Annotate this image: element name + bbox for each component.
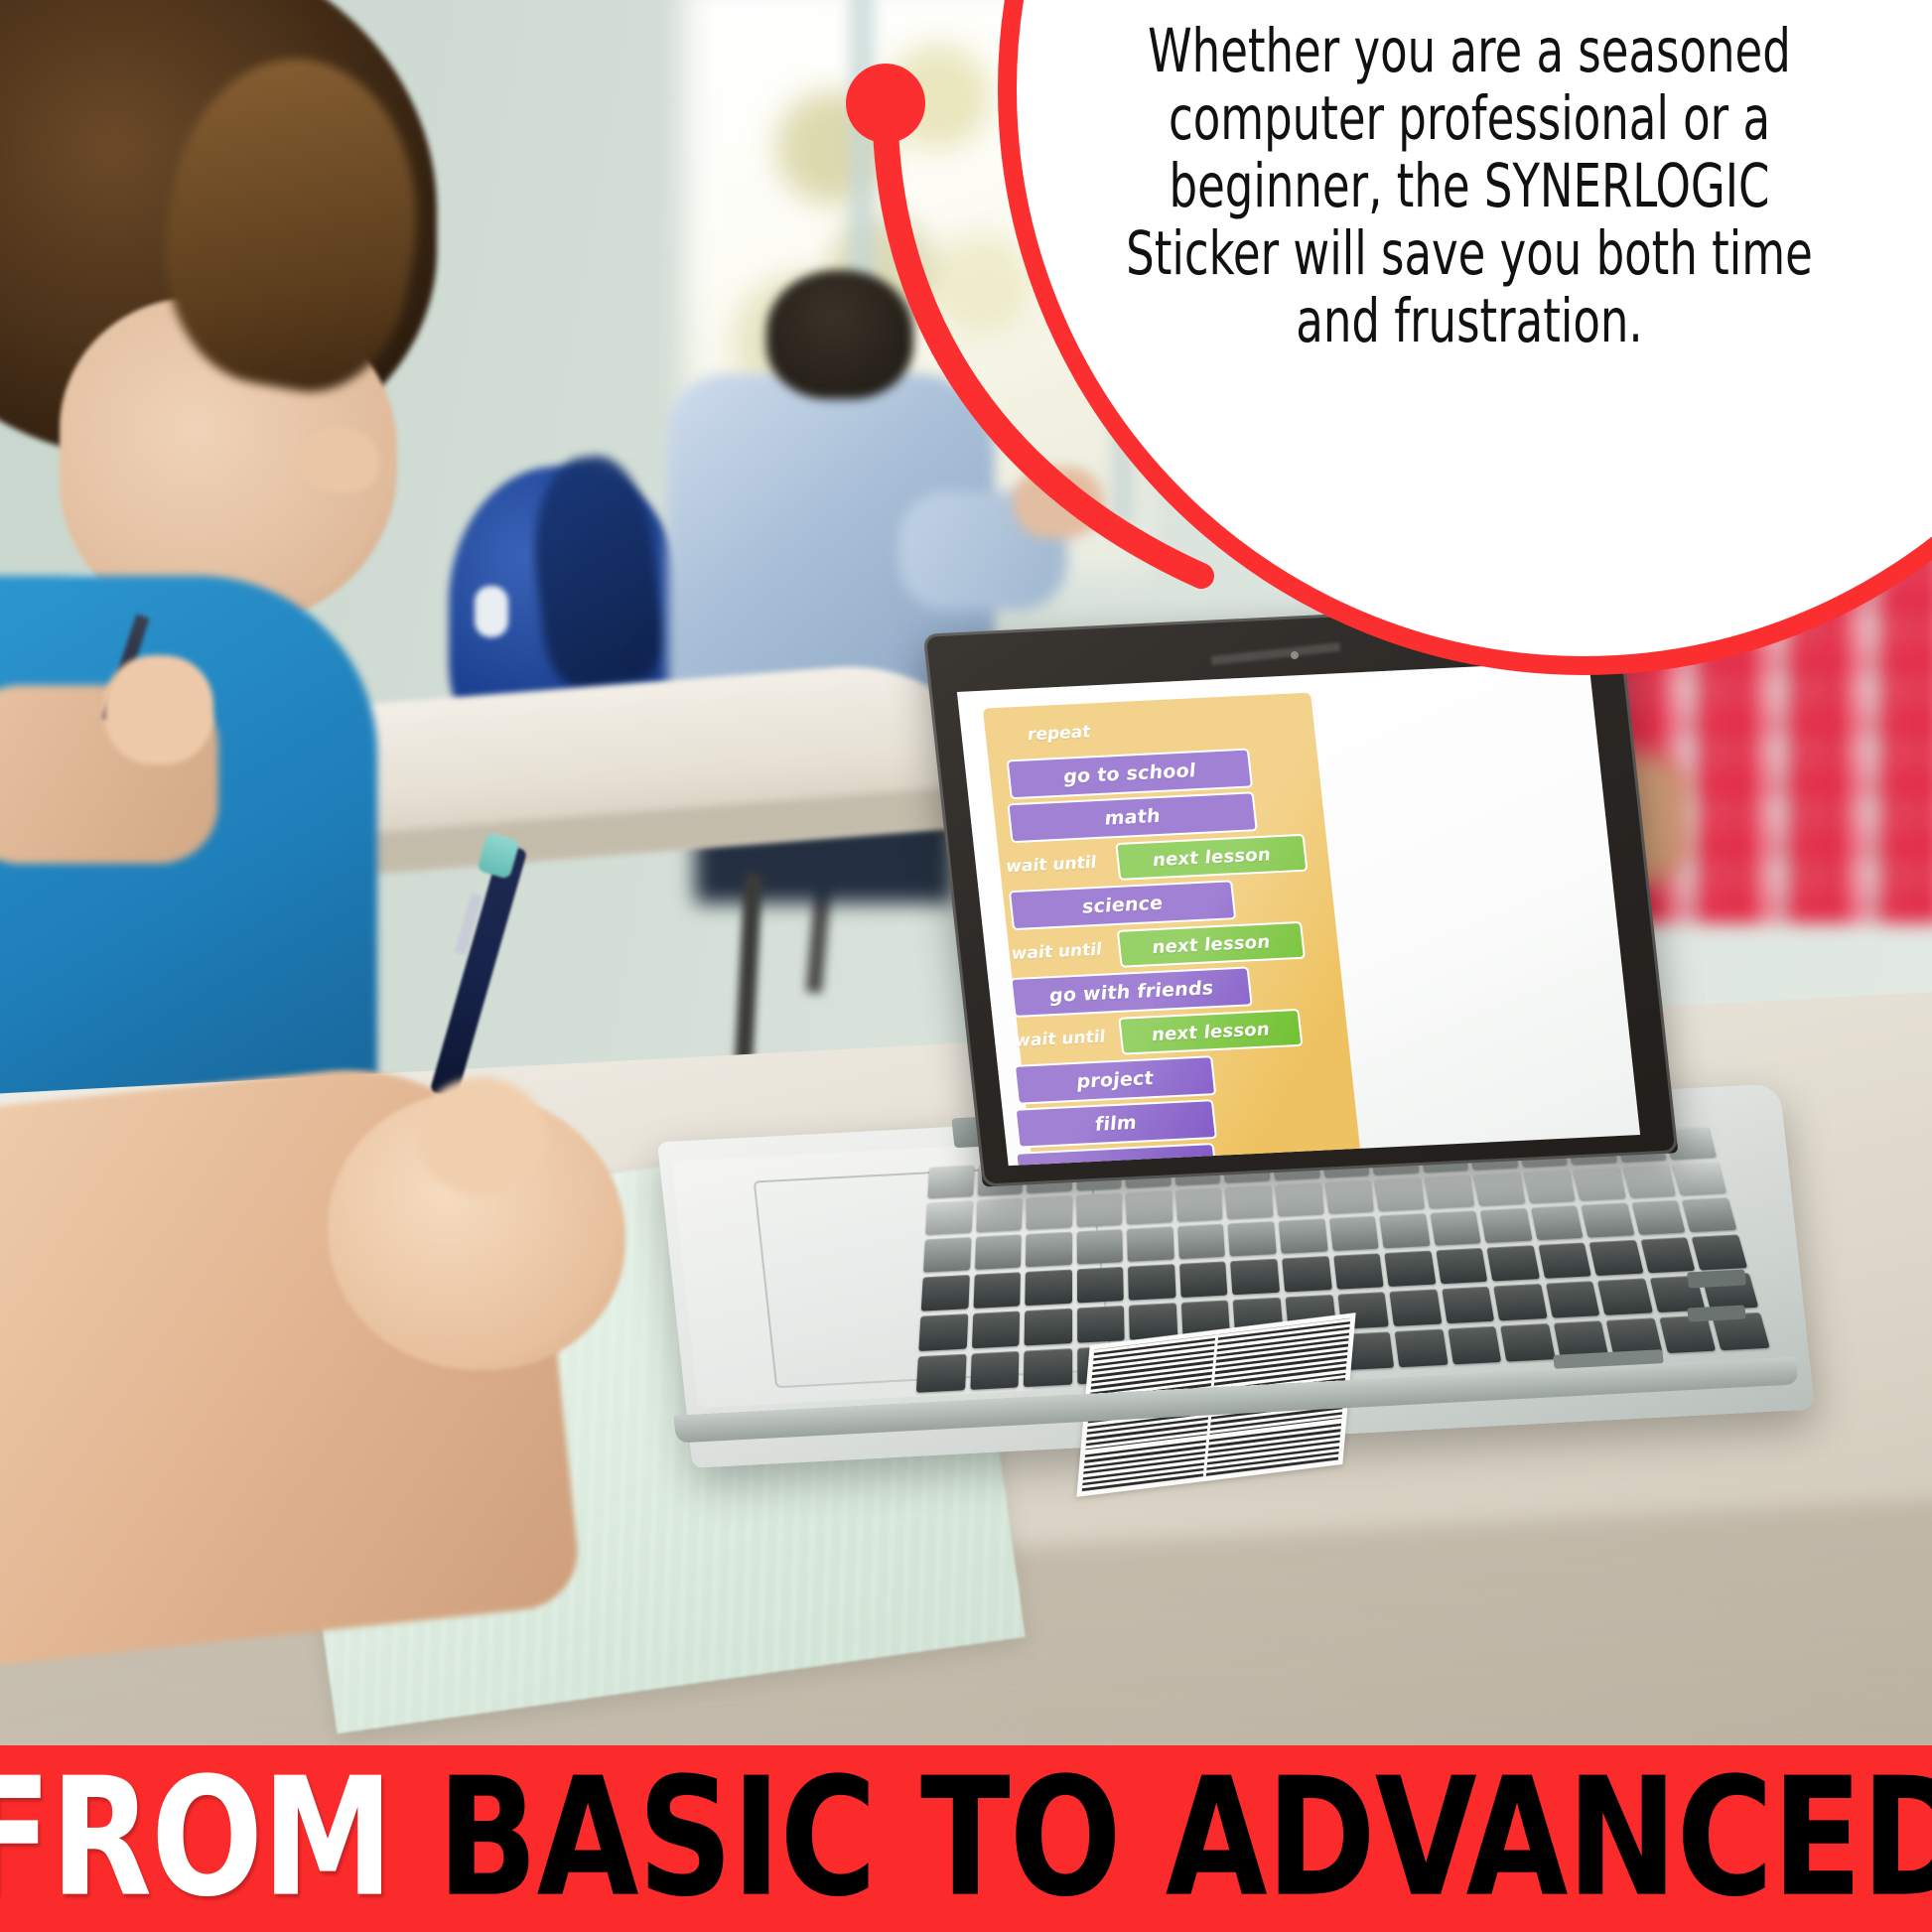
block-program: repeat go to school math wait until next… [983,683,1557,1166]
block-science[interactable]: science [1009,880,1236,930]
block-next-lesson-3[interactable]: next lesson [1118,1009,1303,1055]
block-film[interactable]: film [1015,1099,1217,1149]
laptop-port [1687,1270,1746,1289]
foreground-student-far-hand [104,655,213,764]
block-repeat-label[interactable]: repeat [1027,722,1091,745]
bottom-banner: FROM BASIC TO ADVANCED [0,1745,1932,1932]
classroom-photo: repeat go to school math wait until next… [0,0,1932,1755]
banner-headline: FROM BASIC TO ADVANCED [0,1757,1932,1921]
laptop: repeat go to school math wait until next… [655,635,1906,1569]
block-wait-until-2[interactable]: wait until [1011,938,1130,964]
block-wait-until-3[interactable]: wait until [1014,1026,1133,1051]
window-frame-right [1112,0,1134,526]
laptop-screen: repeat go to school math wait until next… [957,661,1640,1166]
block-next-lesson-1[interactable]: next lesson [1115,834,1308,881]
foreground-student-nose [300,427,379,492]
block-project[interactable]: project [1014,1055,1216,1105]
ad-canvas: repeat go to school math wait until next… [0,0,1932,1932]
block-wait-until-1[interactable]: wait until [1005,852,1126,878]
block-next-lesson-2[interactable]: next lesson [1117,921,1306,968]
banner-word-from: FROM [0,1745,393,1932]
foreground-student-thumb [417,1077,546,1196]
background-student-hand [1013,467,1104,538]
background-student-head [766,270,913,399]
backpack-tag [475,586,508,637]
banner-word-basic-to-advanced: BASIC TO ADVANCED [438,1745,1932,1932]
repeat-wrapper-block[interactable]: repeat go to school math wait until next… [983,693,1367,1167]
